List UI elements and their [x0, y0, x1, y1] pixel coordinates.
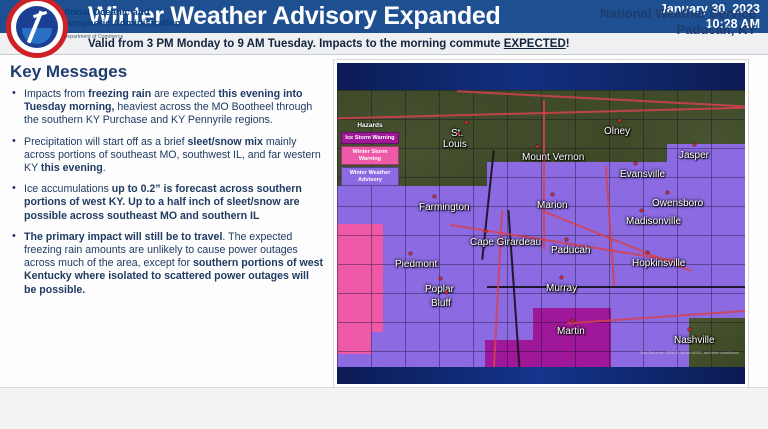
city-label: Murray [546, 283, 577, 294]
validity-emphasis: EXPECTED [504, 38, 566, 50]
key-messages-list: Impacts from freezing rain are expected … [10, 88, 324, 297]
city-label: Cape Girardeau [470, 237, 541, 248]
key-messages-title: Key Messages [10, 62, 324, 82]
map-legend: Hazards Ice Storm Warning Winter Storm W… [341, 122, 399, 188]
city-label: Hopkinsville [632, 258, 685, 269]
legend-item-winter-storm-warning: Winter Storm Warning [341, 146, 399, 165]
city-label: Bluff [431, 298, 451, 309]
key-message-text-run: freezing rain [88, 88, 151, 100]
city-label: Olney [604, 126, 630, 137]
hazard-map[interactable]: Winter Weather Headlines Weather Forecas… [334, 60, 748, 387]
city-dot [634, 162, 637, 165]
city-label: Martin [557, 326, 585, 337]
key-message-text-run: The primary impact will still be to trav… [24, 231, 222, 243]
city-label: Evansville [620, 169, 665, 180]
city-label: Louis [443, 139, 467, 150]
nws-line-2: Paducah, KY [600, 22, 756, 38]
key-message-text-run: sleet/snow mix [188, 136, 263, 148]
city-dot [465, 121, 468, 124]
city-dot [618, 119, 621, 122]
city-label: Owensboro [652, 198, 703, 209]
warning-winter-storm-area-2 [337, 318, 371, 354]
legend-item-ice-storm-warning: Ice Storm Warning [341, 132, 399, 144]
key-message-text-run: this evening [41, 162, 103, 174]
key-messages-panel: Key Messages Impacts from freezing rain … [0, 56, 332, 386]
city-dot [445, 291, 448, 294]
key-message-text-run: Precipitation will start off as a brief [24, 136, 188, 148]
noaa-wordmark: National Oceanic and Atmospheric Adminis… [52, 7, 181, 43]
city-label: Paducah [551, 245, 590, 256]
city-dot [565, 238, 568, 241]
nws-seal-inner [16, 6, 58, 48]
key-message-bullet: Ice accumulations up to 0.2” is forecast… [10, 183, 324, 223]
highway-i57 [543, 100, 545, 250]
city-label: Mount Vernon [522, 152, 584, 163]
nws-office-wordmark: National Weather Service Paducah, KY [600, 6, 756, 37]
nws-line-1: National Weather Service [600, 6, 756, 22]
nws-seal-bolt [27, 10, 43, 43]
map-canvas[interactable]: Hazards Ice Storm Warning Winter Storm W… [337, 90, 745, 373]
city-label: Marion [537, 200, 568, 211]
city-dot [646, 251, 649, 254]
map-header-bar [337, 63, 745, 90]
key-message-bullet: Impacts from freezing rain are expected … [10, 88, 324, 128]
winter-weather-advisory-graphic: Winter Weather Advisory Expanded January… [0, 0, 768, 429]
key-message-text-run: Ice accumulations [24, 183, 112, 195]
city-dot [409, 252, 412, 255]
city-label: Farmington [419, 202, 470, 213]
key-message-text-run: are expected [151, 88, 218, 100]
map-footer-bar [337, 367, 745, 384]
city-dot [536, 145, 539, 148]
city-label: Jasper [679, 150, 709, 161]
noaa-subline: U.S. Department of Commerce [52, 32, 181, 43]
city-dot [693, 143, 696, 146]
city-dot [560, 276, 563, 279]
state-line-ky-tn [487, 286, 745, 288]
key-message-text-run: Impacts from [24, 88, 88, 100]
city-dot [439, 277, 442, 280]
city-dot [571, 319, 574, 322]
city-label: Madisonville [626, 216, 681, 227]
city-dot [640, 209, 643, 212]
warning-winter-storm-area [337, 224, 383, 332]
key-message-bullet: The primary impact will still be to trav… [10, 231, 324, 297]
city-dot [688, 328, 691, 331]
city-dot [484, 230, 487, 233]
noaa-line-2: Atmospheric Administration [52, 18, 181, 29]
city-dot [666, 191, 669, 194]
city-label: Poplar [425, 284, 454, 295]
city-dot [433, 195, 436, 198]
footer-band [0, 387, 768, 429]
city-label: Nashville [674, 335, 715, 346]
validity-suffix: ! [566, 38, 570, 50]
city-label: Piedmont [395, 259, 437, 270]
city-dot [457, 132, 460, 135]
map-attribution: Esri, DeLorme, GEBCO, NOAA NGDC, and oth… [641, 351, 739, 355]
legend-title: Hazards [341, 122, 399, 129]
noaa-line-1: National Oceanic and [52, 7, 181, 18]
key-message-bullet: Precipitation will start off as a brief … [10, 136, 324, 176]
key-message-text-run: . [103, 162, 106, 174]
legend-item-winter-weather-advisory: Winter Weather Advisory [341, 167, 399, 186]
city-dot [551, 193, 554, 196]
